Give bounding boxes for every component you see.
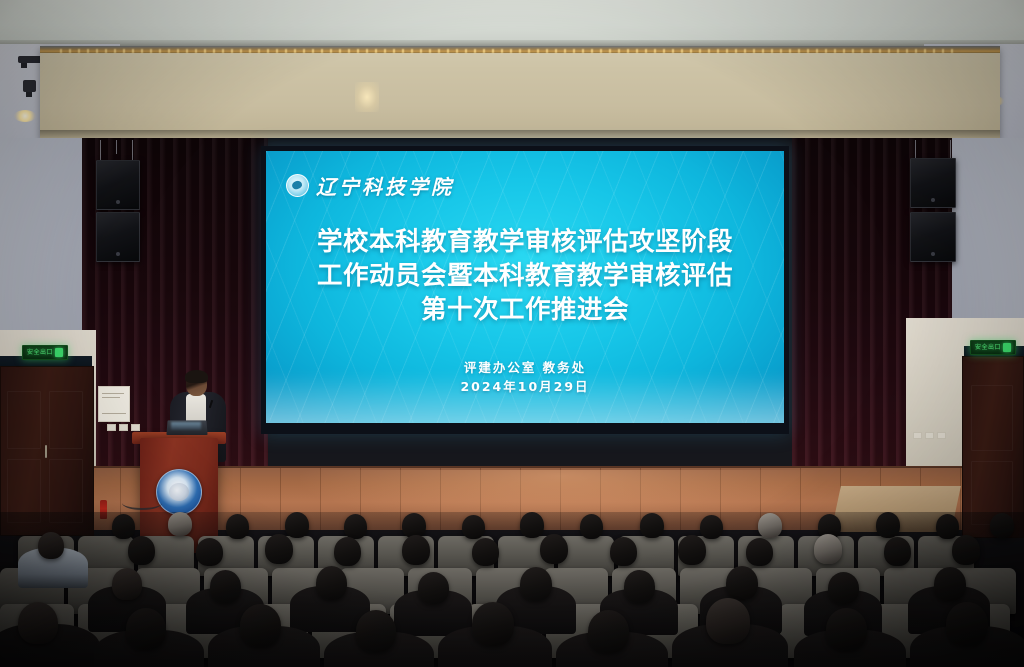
attendee-head (814, 534, 842, 564)
exit-sign-label: 安全出口 (27, 350, 53, 356)
slide-subtitle: 评建办公室 教务处 2024年10月29日 (460, 358, 589, 397)
slide-title-line-3: 第十次工作推进会 (282, 294, 769, 328)
loudspeaker-box (910, 158, 956, 208)
slide-title-line-2: 工作动员会暨本科教育教学审核评估 (282, 260, 769, 294)
slide-title: 学校本科教育教学审核评估攻坚阶段 工作动员会暨本科教育教学审核评估 第十次工作推… (282, 226, 769, 328)
attendee-head (884, 537, 911, 566)
auditorium-photo: 辽宁科技学院 学校本科教育教学审核评估攻坚阶段 工作动员会暨本科教育教学审核评估… (0, 0, 1024, 667)
attendee-head (344, 514, 367, 539)
attendee-head (18, 602, 58, 644)
valance-wall-light (355, 82, 379, 112)
attendee-head (580, 514, 603, 539)
attendee-head (334, 537, 361, 566)
attendee-head (540, 534, 568, 564)
exit-door-left[interactable] (0, 366, 94, 536)
running-man-icon (1003, 343, 1011, 352)
presenter-hair (185, 370, 208, 383)
wall-switch[interactable] (119, 424, 128, 431)
valance-light-strip (60, 49, 960, 53)
attendee-head (462, 515, 485, 539)
attendee-head (472, 538, 499, 566)
attendee-head (726, 566, 758, 600)
attendee-head (226, 514, 249, 539)
laptop-screen-glow (171, 422, 201, 430)
loudspeaker-box (910, 212, 956, 262)
attendee-head (678, 535, 706, 565)
attendee-head (624, 570, 655, 603)
wall-switch[interactable] (925, 432, 934, 439)
attendee-head (196, 538, 223, 566)
attendee-head (38, 532, 64, 559)
attendee-head (936, 514, 959, 539)
attendee-head (826, 608, 867, 651)
attendee-head (418, 572, 449, 604)
exit-sign-label: 安全出口 (975, 345, 1001, 351)
slide-title-line-1: 学校本科教育教学审核评估攻坚阶段 (282, 226, 769, 260)
attendee-head (706, 598, 750, 644)
attendee-head (316, 566, 347, 600)
wall-notice-board (98, 386, 130, 422)
loudspeaker-box (96, 160, 140, 210)
attendee-head (285, 512, 309, 538)
ceiling-downlight (14, 110, 36, 122)
attendee-head (265, 534, 293, 564)
attendee-head (700, 515, 723, 539)
wall-switch[interactable] (107, 424, 116, 431)
attendee-head (402, 535, 430, 565)
floor-cable (122, 496, 162, 510)
wall-switch[interactable] (131, 424, 140, 431)
wall-switch[interactable] (913, 432, 922, 439)
attendee-head (746, 538, 773, 566)
attendee-head (520, 567, 552, 601)
exit-sign-left: 安全出口 (22, 345, 68, 360)
attendee-head (472, 602, 514, 646)
attendee-head (758, 513, 782, 538)
attendee-head (356, 610, 396, 652)
attendee-head (990, 513, 1014, 538)
exit-door-right[interactable] (962, 356, 1024, 538)
attendee-head (128, 536, 155, 565)
attendee-head (610, 537, 637, 566)
running-man-icon (55, 348, 63, 357)
school-emblem-icon (286, 174, 309, 197)
school-seal-icon (156, 469, 202, 515)
wall-switch[interactable] (937, 432, 946, 439)
attendee-head (210, 570, 241, 603)
attendee-head (952, 535, 980, 565)
attendee-head (240, 604, 281, 647)
wall-upper-left (0, 138, 82, 348)
attendee-head (112, 514, 135, 539)
loudspeaker-box (96, 212, 140, 262)
school-name: 辽宁科技学院 (316, 171, 454, 200)
slide-date: 2024年10月29日 (460, 377, 589, 396)
attendee-head (876, 512, 900, 538)
proscenium-valance (40, 46, 1000, 138)
attendee-head (168, 512, 192, 536)
attendee-head (520, 512, 544, 538)
attendee-head (828, 572, 859, 604)
presentation-screen: 辽宁科技学院 学校本科教育教学审核评估攻坚阶段 工作动员会暨本科教育教学审核评估… (266, 151, 784, 423)
attendee-head (640, 513, 664, 538)
stage-light-fixture (23, 80, 36, 92)
attendee-head (588, 610, 629, 653)
attendee-head (126, 608, 166, 650)
exit-sign-right: 安全出口 (970, 340, 1016, 355)
audience-area (0, 512, 1024, 667)
attendee-head (934, 567, 966, 601)
wall-upper-right (952, 138, 1024, 338)
slide-brand: 辽宁科技学院 (286, 171, 454, 200)
door-handle[interactable] (45, 445, 47, 458)
attendee-head (112, 568, 142, 600)
slide-organizers: 评建办公室 教务处 (460, 358, 589, 377)
attendee-head (946, 602, 988, 646)
